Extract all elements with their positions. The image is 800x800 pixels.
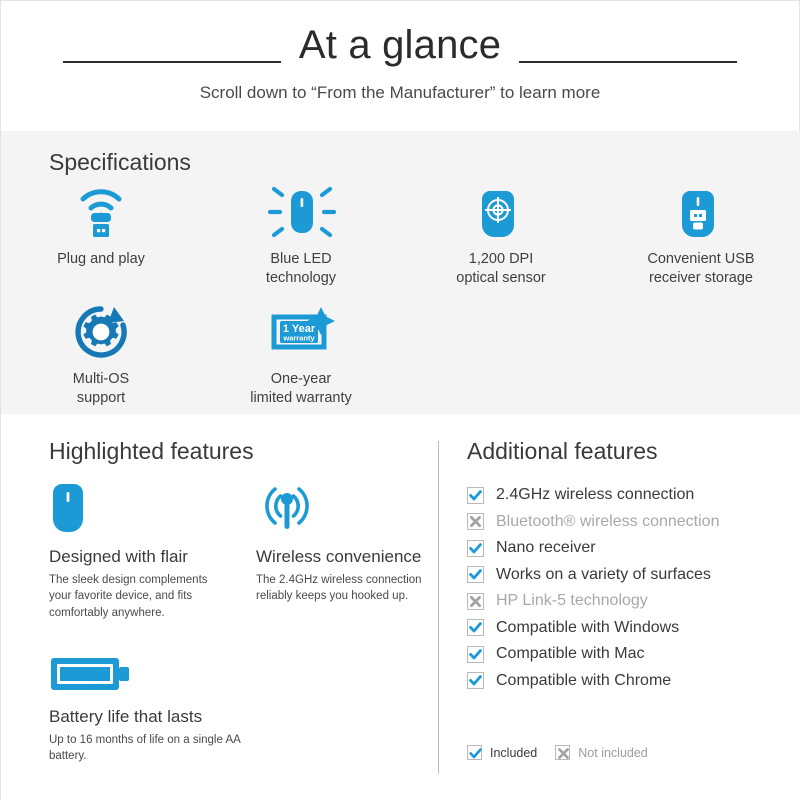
feature-label: HP Link-5 technology (496, 593, 648, 609)
warranty-badge-icon: 1 Year warranty (258, 299, 344, 361)
usb-dongle-wifi-icon (70, 179, 132, 241)
spec-label-line2: optical sensor (456, 270, 545, 286)
check-icon (467, 566, 484, 583)
gear-refresh-icon (70, 299, 132, 361)
check-icon (467, 745, 482, 760)
spec-label-line1: Blue LED (270, 251, 331, 267)
optical-sensor-icon (470, 179, 532, 241)
feature-row: Compatible with Mac (467, 641, 719, 668)
feature-heading: Designed with flair (49, 548, 224, 567)
feature-label: Works on a variety of surfaces (496, 567, 711, 583)
cross-icon (467, 593, 484, 610)
warranty-line2: warranty (282, 334, 315, 343)
feature-label: 2.4GHz wireless connection (496, 487, 694, 503)
feature-label: Nano receiver (496, 540, 596, 556)
feature-row: Nano receiver (467, 535, 719, 562)
battery-icon (49, 636, 264, 698)
legend-not-included-label: Not included (578, 746, 648, 760)
check-icon (467, 487, 484, 504)
mouse-icon (49, 476, 224, 538)
highlighted-features-title: Highlighted features (49, 438, 254, 465)
legend-not-included: Not included (555, 745, 648, 760)
feature-label: Bluetooth® wireless connection (496, 514, 719, 530)
legend-included-label: Included (490, 746, 537, 760)
spec-cell-empty-a (401, 299, 601, 407)
spec-cell-empty-b (601, 299, 800, 407)
spec-label: Plug and play (57, 250, 145, 269)
check-icon (467, 646, 484, 663)
spec-label-line2: support (77, 390, 125, 406)
spec-label: 1,200 DPI optical sensor (456, 250, 545, 287)
check-icon (467, 619, 484, 636)
specifications-grid-row2: Multi-OS support 1 Year warranty One-yea… (1, 299, 800, 407)
header: At a glance Scroll down to “From the Man… (1, 1, 799, 121)
spec-label-line2: technology (266, 270, 336, 286)
feature-label: Compatible with Windows (496, 620, 679, 636)
wireless-antenna-icon (256, 476, 431, 538)
mouse-glow-icon (262, 179, 340, 241)
spec-label: Multi-OS support (73, 370, 129, 407)
spec-item-blue-led: Blue LED technology (201, 179, 401, 287)
feature-row: Works on a variety of surfaces (467, 562, 719, 589)
legend: Included Not included (467, 745, 666, 760)
check-icon (467, 672, 484, 689)
legend-included: Included (467, 745, 537, 760)
spec-label-line2: receiver storage (649, 270, 753, 286)
title-rule-left (63, 61, 281, 63)
cross-icon (555, 745, 570, 760)
spec-label: Blue LED technology (266, 250, 336, 287)
spec-item-plug-and-play: Plug and play (1, 179, 201, 287)
lower-section: Highlighted features Additional features… (1, 414, 800, 800)
feature-body: Up to 16 months of life on a single AA b… (49, 732, 264, 765)
spec-label-line1: Multi-OS (73, 371, 129, 387)
feature-body: The 2.4GHz wireless connection reliably … (256, 572, 431, 605)
header-subtitle: Scroll down to “From the Manufacturer” t… (1, 83, 799, 103)
spec-label-line1: One-year (271, 371, 331, 387)
infographic-page: At a glance Scroll down to “From the Man… (0, 0, 800, 800)
page-title: At a glance (299, 25, 501, 65)
feature-row: 2.4GHz wireless connection (467, 482, 719, 509)
spec-label-line1: Convenient USB (647, 251, 754, 267)
spec-label: One-year limited warranty (250, 370, 352, 407)
feature-designed-with-flair: Designed with flair The sleek design com… (49, 476, 224, 622)
check-icon (467, 540, 484, 557)
title-rule-right (519, 61, 737, 63)
spec-label-line2: limited warranty (250, 390, 352, 406)
spec-item-receiver-storage: Convenient USB receiver storage (601, 179, 800, 287)
specifications-title: Specifications (49, 149, 191, 176)
spec-label-line1: 1,200 DPI (469, 251, 534, 267)
specifications-section: Specifications (1, 131, 800, 414)
additional-features-title: Additional features (467, 438, 658, 465)
feature-label: Compatible with Chrome (496, 673, 671, 689)
feature-row: HP Link-5 technology (467, 588, 719, 615)
title-row: At a glance (1, 25, 799, 65)
feature-heading: Wireless convenience (256, 548, 431, 567)
feature-row: Compatible with Windows (467, 615, 719, 642)
spec-label: Convenient USB receiver storage (647, 250, 754, 287)
feature-wireless-convenience: Wireless convenience The 2.4GHz wireless… (256, 476, 431, 605)
additional-features-list: 2.4GHz wireless connectionBluetooth® wir… (467, 482, 719, 694)
feature-row: Compatible with Chrome (467, 668, 719, 695)
cross-icon (467, 513, 484, 530)
feature-heading: Battery life that lasts (49, 708, 264, 727)
column-divider (438, 441, 439, 774)
specifications-grid-row1: Plug and play (1, 179, 800, 287)
feature-row: Bluetooth® wireless connection (467, 509, 719, 536)
feature-battery-life: Battery life that lasts Up to 16 months … (49, 636, 264, 765)
spec-item-warranty: 1 Year warranty One-year limited warrant… (201, 299, 401, 407)
spec-item-optical-sensor: 1,200 DPI optical sensor (401, 179, 601, 287)
feature-body: The sleek design complements your favori… (49, 572, 224, 622)
feature-label: Compatible with Mac (496, 646, 645, 662)
mouse-receiver-storage-icon (670, 179, 732, 241)
spec-item-multi-os: Multi-OS support (1, 299, 201, 407)
